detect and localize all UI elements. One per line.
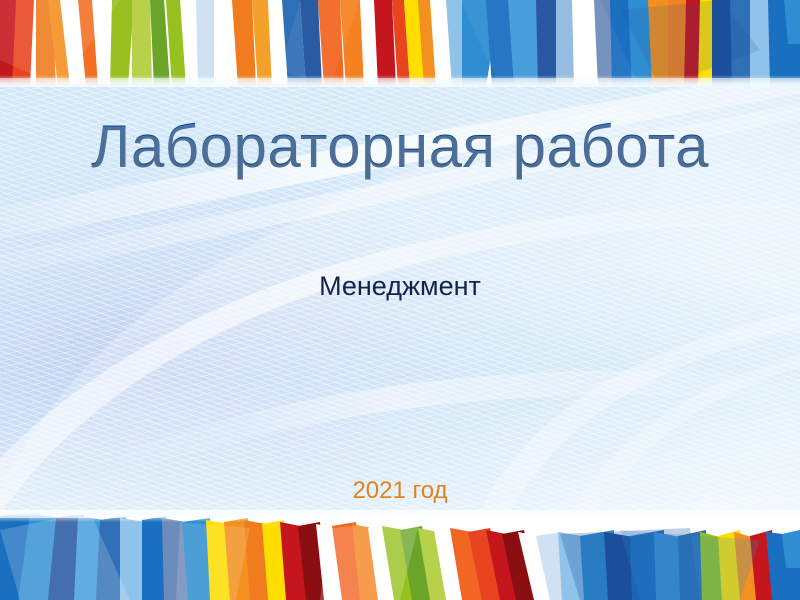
bottom-border-graphic: [0, 510, 800, 600]
top-border-graphic: [0, 0, 800, 87]
top-decorative-border: [0, 0, 800, 87]
slide-subtitle: Менеджмент: [0, 270, 800, 302]
slide-title: Лабораторная работа: [0, 112, 800, 182]
presentation-slide: Лабораторная работа Менеджмент 2021 год: [0, 0, 800, 600]
slide-year: 2021 год: [0, 477, 800, 505]
bottom-decorative-border: [0, 510, 800, 600]
